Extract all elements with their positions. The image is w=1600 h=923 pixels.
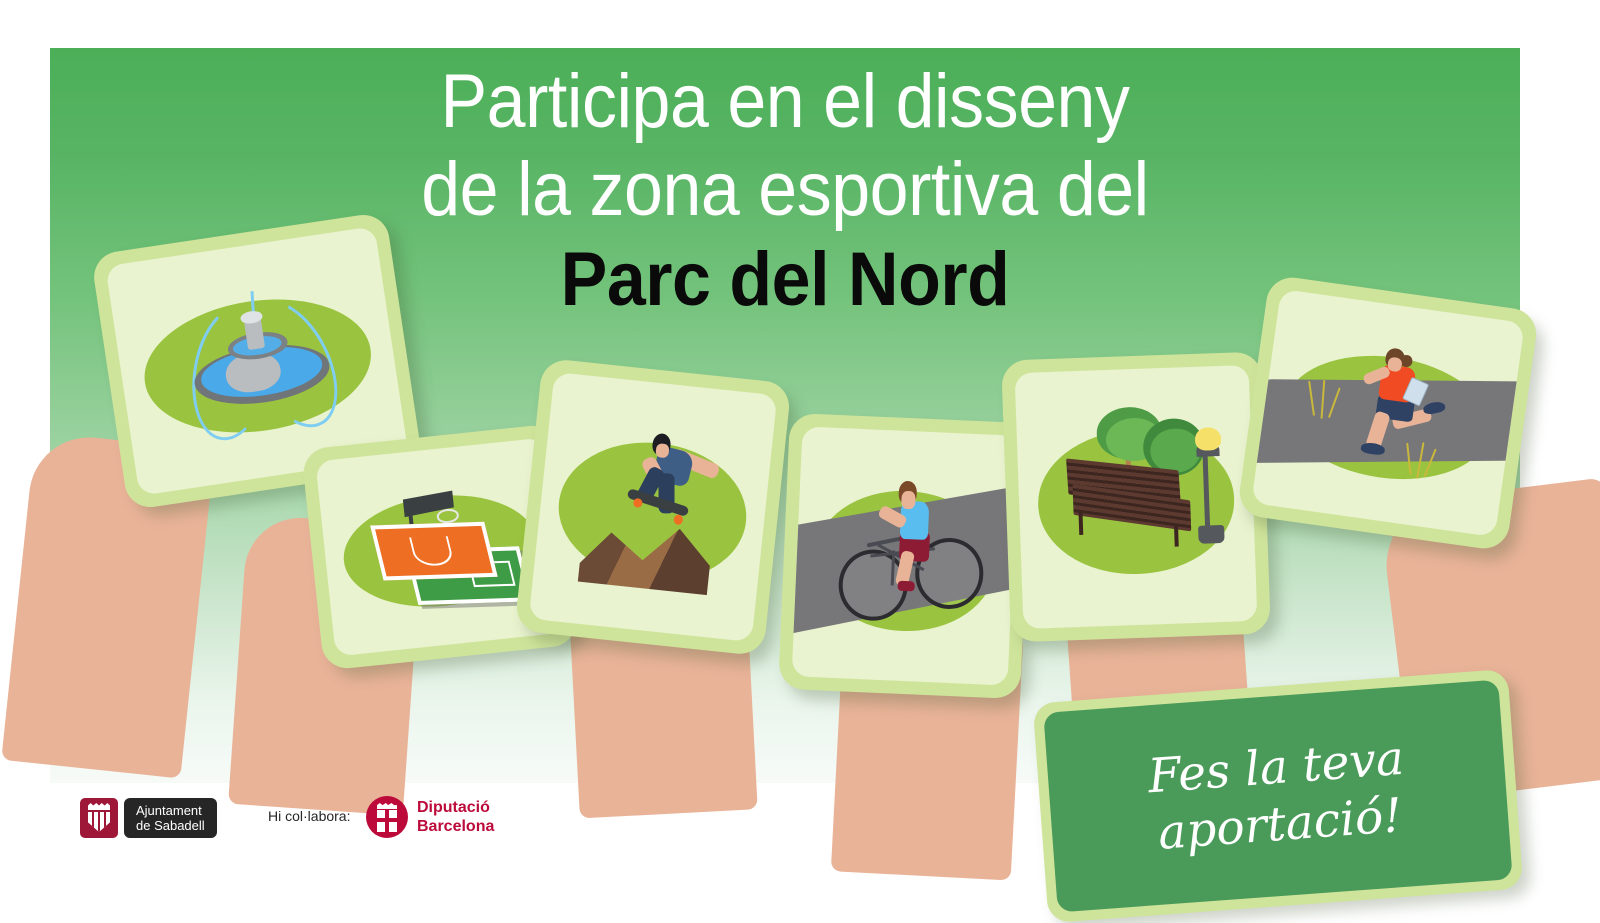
sabadell-shield-icon (80, 798, 118, 838)
ajuntament-nameplate: Ajuntament de Sabadell (124, 798, 217, 838)
runner-card[interactable] (1236, 274, 1539, 551)
crown-icon (377, 803, 397, 809)
crown-icon (88, 803, 110, 810)
bike-card[interactable] (778, 413, 1032, 699)
skate-card-inner (529, 372, 778, 642)
bench-card[interactable] (1001, 352, 1271, 643)
shield-bars-icon (88, 812, 110, 832)
banner-stage: Participa en el disseny de la zona espor… (0, 0, 1600, 900)
footer-logos: Ajuntament de Sabadell Hi col·labora: Di… (0, 790, 1600, 860)
runner-card-inner (1251, 289, 1525, 537)
diputacio-line-1: Diputació (417, 799, 490, 816)
basketball-court (370, 522, 498, 581)
diputacio-barcelona-logo[interactable]: Diputació Barcelona (366, 796, 494, 838)
bike-card-inner (792, 426, 1019, 685)
diputacio-nameplate: Diputació Barcelona (417, 798, 494, 836)
ajuntament-sabadell-logo[interactable]: Ajuntament de Sabadell (80, 798, 217, 838)
cyclist-shoe (897, 581, 915, 592)
diputacio-emblem-icon (366, 796, 408, 838)
ajuntament-line-1: Ajuntament (136, 803, 205, 818)
bench-card-inner (1015, 365, 1258, 629)
lamp-post-base (1198, 525, 1224, 544)
collaborates-label: Hi col·labora: (268, 808, 350, 824)
diputacio-line-2: Barcelona (417, 818, 494, 835)
bench-leg-right (1174, 524, 1179, 547)
lamp-post-light (1194, 427, 1221, 451)
ajuntament-line-2: de Sabadell (136, 818, 205, 833)
cyclist-face (901, 491, 916, 509)
emblem-cross-horizontal-icon (377, 818, 397, 822)
bench-leg-left (1078, 512, 1083, 535)
skate-card[interactable] (514, 358, 791, 657)
